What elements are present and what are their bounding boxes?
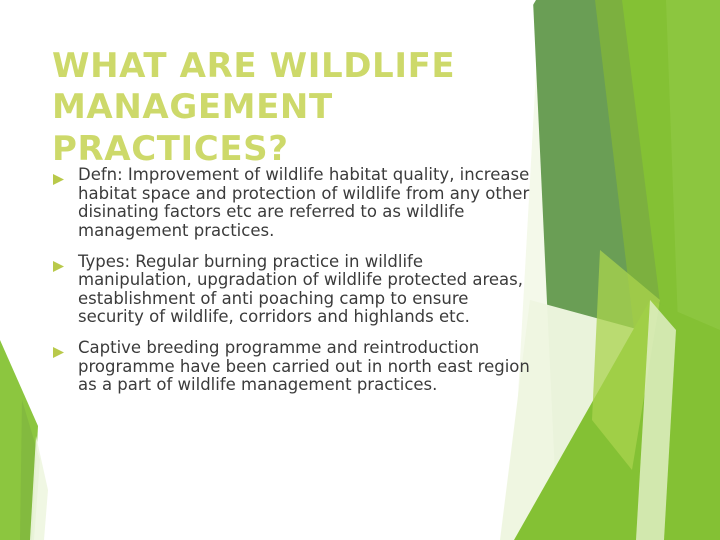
deco-shape-mid-green-sliver [595, 0, 676, 430]
list-item-text: Types: Regular burning practice in wildl… [78, 253, 530, 328]
deco-shape-dark-green-wedge [533, 0, 675, 540]
triangle-right-icon [52, 346, 65, 359]
deco-shape-left-wedge [0, 340, 38, 540]
deco-shape-pale-wash [510, 0, 720, 540]
list-item: Types: Regular burning practice in wildl… [52, 253, 530, 328]
deco-shape-right-edge-band [666, 0, 720, 540]
bullet-list: Defn: Improvement of wildlife habitat qu… [52, 166, 530, 407]
deco-shape-pale-streak [636, 300, 676, 540]
deco-shape-left-wedge-shade [20, 400, 40, 540]
deco-shape-lower-bright-diagonal [514, 300, 720, 540]
list-item: Captive breeding programme and reintrodu… [52, 339, 530, 395]
list-item-text: Defn: Improvement of wildlife habitat qu… [78, 166, 530, 241]
triangle-right-icon [52, 260, 65, 273]
deco-shape-light-green-triangle [592, 250, 660, 470]
deco-shape-left-pale-edge [30, 436, 48, 540]
slide-title: What are Wildlife Management Practices? [52, 46, 522, 170]
list-item-text: Captive breeding programme and reintrodu… [78, 339, 530, 395]
presentation-slide: What are Wildlife Management Practices? … [0, 0, 720, 540]
triangle-right-icon [52, 173, 65, 186]
deco-shape-bright-green-band [618, 0, 720, 540]
list-item: Defn: Improvement of wildlife habitat qu… [52, 166, 530, 241]
decorative-green-shapes-right [500, 0, 720, 540]
